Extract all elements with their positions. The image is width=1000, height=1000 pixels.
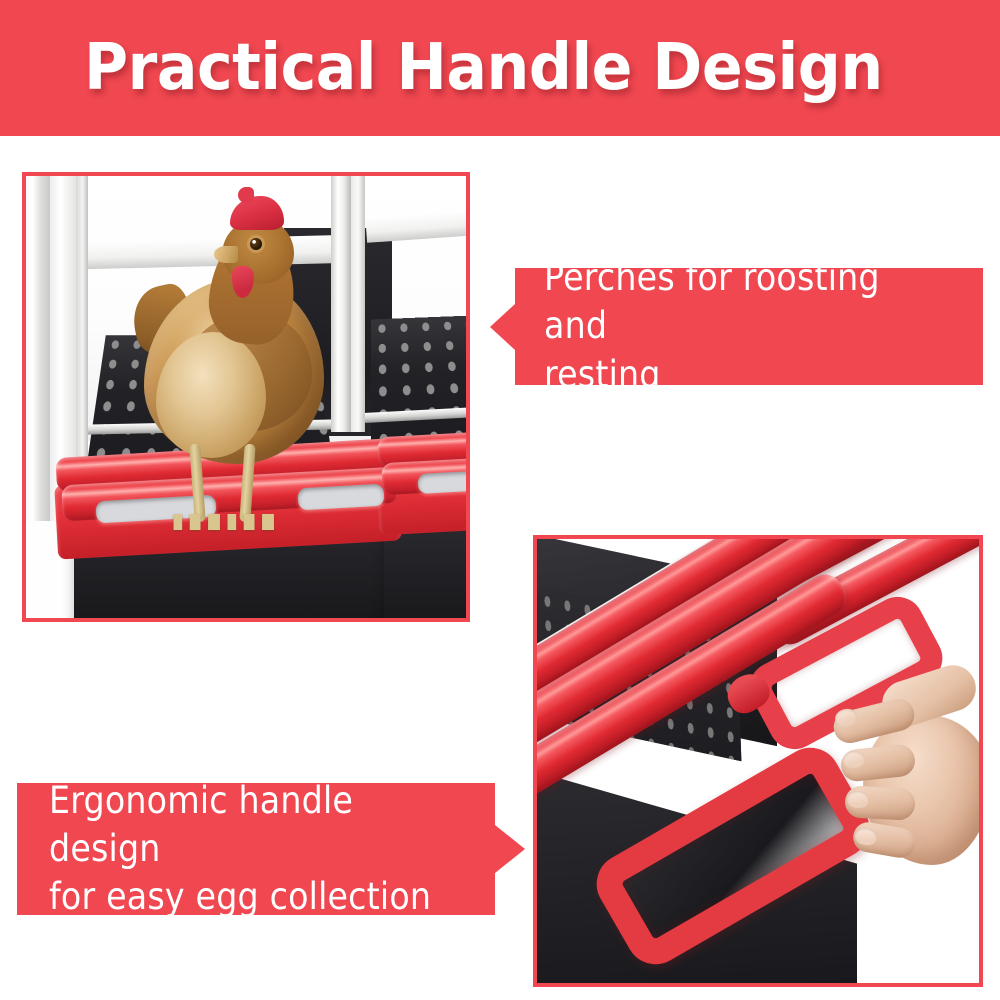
handle-photo [537, 539, 979, 983]
hen [138, 182, 353, 534]
page-title: Practical Handle Design [84, 36, 883, 100]
hen-foot-right [224, 514, 278, 530]
callout-perches: Perches for roosting and resting [515, 268, 983, 385]
callout-arrow-right-icon [495, 825, 525, 873]
hen-breast [156, 332, 266, 458]
callout-perches-label: Perches for roosting and resting [544, 254, 928, 398]
callout-handle: Ergonomic handle design for easy egg col… [17, 783, 495, 915]
header-banner: Practical Handle Design [0, 0, 1000, 136]
hand-gripping-handle [825, 681, 979, 901]
callout-handle-label: Ergonomic handle design for easy egg col… [49, 777, 440, 921]
callout-arrow-left-icon [490, 304, 515, 350]
coop-frame-post-1 [26, 176, 50, 521]
photo-panel-perches [22, 172, 470, 622]
hen-foot-left [170, 514, 224, 530]
handle-cutout-3 [418, 470, 466, 494]
hen-beak [214, 246, 238, 263]
hen-eye [250, 238, 262, 250]
hen-comb [230, 196, 284, 230]
photo-panel-handle [533, 535, 983, 987]
coop-frame-post-mid-2 [351, 176, 365, 432]
hand-nail-3 [847, 790, 870, 808]
coop-photo [26, 176, 466, 618]
infographic-page: Practical Handle Design [0, 0, 1000, 1000]
